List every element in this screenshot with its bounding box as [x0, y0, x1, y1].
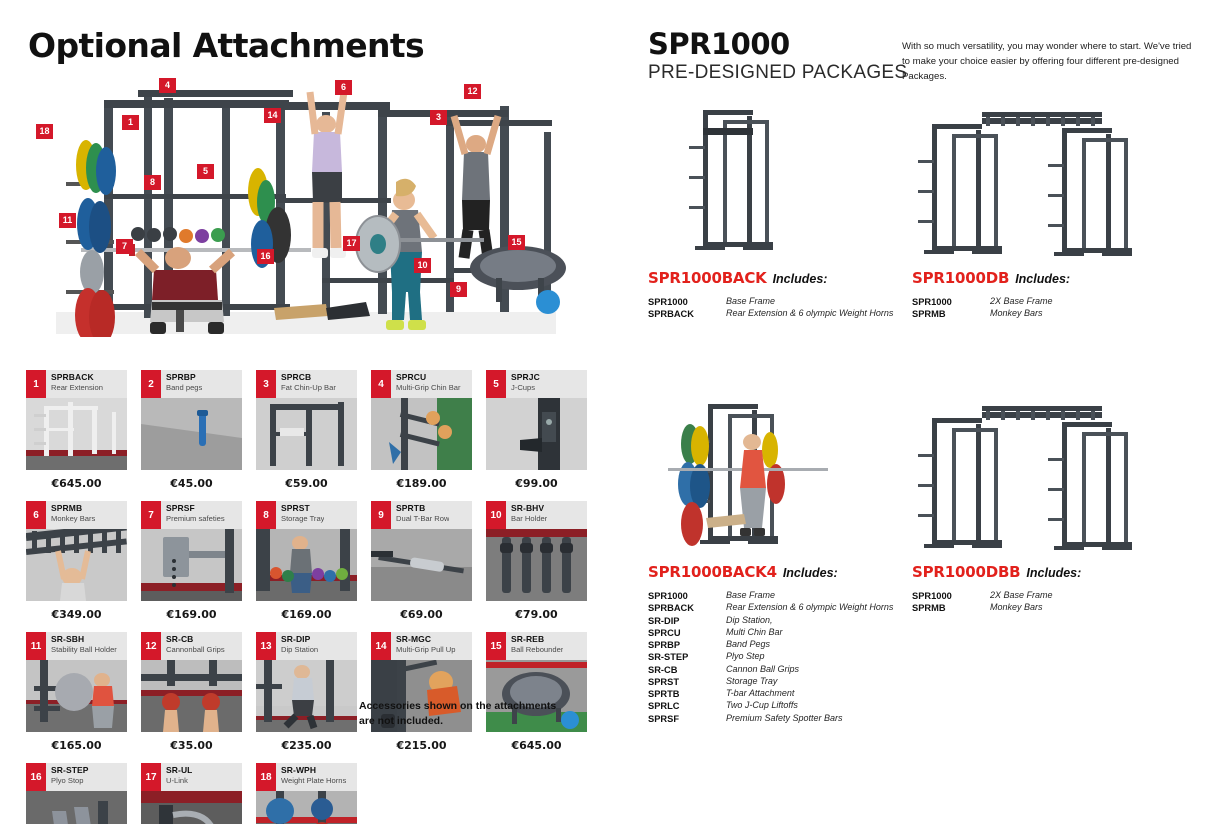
card-title-block: SPRMBMonkey Bars: [46, 501, 95, 529]
card-number-badge: 9: [371, 501, 391, 529]
card-sku: SPRBP: [166, 373, 202, 383]
attachment-grid: 1SPRBACKRear Extension€645.002SPRBPBand …: [26, 370, 588, 824]
card-header: 11SR-SBHStability Ball Holder: [26, 632, 127, 660]
package-item-name: Rear Extension & 6 olympic Weight Horns: [726, 602, 893, 614]
card-product-image: [26, 398, 127, 470]
card-title-block: SPRSFPremium safeties: [161, 501, 225, 529]
card-sku: SR-MGC: [396, 635, 456, 645]
package-heading: SPR1000DBBIncludes:: [912, 563, 1204, 582]
card-number-badge: 14: [371, 632, 391, 660]
package-item-sku: SPRBP: [648, 639, 726, 651]
hero-badge: 3: [430, 110, 447, 125]
package-item-sku: SPRTB: [648, 688, 726, 700]
package-item-row: SPRTBT-bar Attachment: [648, 688, 920, 700]
package-item-list: SPR1000Base FrameSPRBACKRear Extension &…: [648, 296, 920, 321]
card-header: 15SR-REBBall Rebounder: [486, 632, 587, 660]
card-title-block: SR-BHVBar Holder: [506, 501, 547, 529]
card-number-badge: 5: [486, 370, 506, 398]
card-product-image: [371, 398, 472, 470]
card-price: €35.00: [141, 732, 242, 761]
package-item-name: Premium Safety Spotter Bars: [726, 713, 843, 725]
card-price: €79.00: [486, 601, 587, 630]
card-header: 10SR-BHVBar Holder: [486, 501, 587, 529]
card-title-block: SPRCUMulti-Grip Chin Bar: [391, 370, 461, 398]
package-item-sku: SPRST: [648, 676, 726, 688]
card-description: U-Link: [166, 776, 192, 785]
hero-badge: 11: [59, 213, 76, 228]
card-price: €645.00: [486, 732, 587, 761]
card-product-image: [26, 529, 127, 601]
package-item-sku: SPR1000: [912, 590, 990, 602]
package-includes-label: Includes:: [773, 272, 828, 286]
package-item-name: Band Pegs: [726, 639, 770, 651]
card-number-badge: 4: [371, 370, 391, 398]
package-rack-image: [912, 98, 1204, 263]
card-number-badge: 11: [26, 632, 46, 660]
package-card: SPR1000BACKIncludes:SPR1000Base FrameSPR…: [648, 98, 920, 321]
card-description: Multi-Grip Pull Up: [396, 645, 456, 654]
card-sku: SPRCB: [281, 373, 336, 383]
package-item-sku: SPR1000: [648, 590, 726, 602]
card-title-block: SPRTBDual T-Bar Row: [391, 501, 449, 529]
hero-badge: 7: [116, 239, 133, 254]
card-product-image: [256, 398, 357, 470]
hero-illustration: [26, 72, 586, 337]
package-item-name: Dip Station,: [726, 615, 773, 627]
attachment-card[interactable]: 15SR-REBBall Rebounder€645.00: [486, 632, 587, 761]
hero-badge: 1: [122, 115, 139, 130]
package-item-row: SPRBACKRear Extension & 6 olympic Weight…: [648, 602, 920, 614]
package-item-row: SR-DIPDip Station,: [648, 615, 920, 627]
attachment-card[interactable]: 5SPRJCJ-Cups€99.00: [486, 370, 587, 499]
card-number-badge: 10: [486, 501, 506, 529]
attachment-card[interactable]: 8SPRSTStorage Tray€169.00: [256, 501, 357, 630]
card-title-block: SPRBACKRear Extension: [46, 370, 103, 398]
package-heading: SPR1000BACKIncludes:: [648, 269, 920, 288]
card-description: Stability Ball Holder: [51, 645, 117, 654]
card-price: €235.00: [256, 732, 357, 761]
card-description: Weight Plate Horns: [281, 776, 346, 785]
package-item-sku: SR-DIP: [648, 615, 726, 627]
attachment-card[interactable]: 3SPRCBFat Chin-Up Bar€59.00: [256, 370, 357, 499]
package-includes-label: Includes:: [783, 566, 838, 580]
package-item-name: Monkey Bars: [990, 308, 1043, 320]
card-title-block: SR-ULU-Link: [161, 763, 192, 791]
card-product-image: [141, 791, 242, 824]
card-number-badge: 16: [26, 763, 46, 791]
hero-badge: 16: [257, 249, 274, 264]
hero-badge: 12: [464, 84, 481, 99]
card-header: 13SR-DIPDip Station: [256, 632, 357, 660]
card-sku: SR-STEP: [51, 766, 89, 776]
card-number-badge: 8: [256, 501, 276, 529]
catalog-page: Optional Attachments: [0, 0, 1214, 824]
card-price: €69.00: [371, 601, 472, 630]
hero-rack-photo: 18 4 1 6 12 14 3 8 5 11 7 16 17 10 9 15: [26, 72, 586, 337]
card-header: 18SR-WPHWeight Plate Horns: [256, 763, 357, 791]
package-item-sku: SPRCU: [648, 627, 726, 639]
card-number-badge: 15: [486, 632, 506, 660]
card-title-block: SPRCBFat Chin-Up Bar: [276, 370, 336, 398]
package-item-name: Monkey Bars: [990, 602, 1043, 614]
card-number-badge: 18: [256, 763, 276, 791]
package-name: SPR1000DBB: [912, 563, 1020, 581]
card-description: Bar Holder: [511, 514, 547, 523]
attachment-card[interactable]: 1SPRBACKRear Extension€645.00: [26, 370, 127, 499]
card-product-image: [371, 529, 472, 601]
accessories-note: Accessories shown on the attachments are…: [359, 699, 569, 729]
package-rack-image: [912, 392, 1204, 557]
card-description: Monkey Bars: [51, 514, 95, 523]
card-sku: SPRSF: [166, 504, 225, 514]
hero-badge: 5: [197, 164, 214, 179]
card-price: €645.00: [26, 470, 127, 499]
card-title-block: SR-MGCMulti-Grip Pull Up: [391, 632, 456, 660]
package-name: SPR1000BACK: [648, 269, 767, 287]
card-header: 3SPRCBFat Chin-Up Bar: [256, 370, 357, 398]
package-heading: SPR1000BACK4Includes:: [648, 563, 920, 582]
card-sku: SPRMB: [51, 504, 95, 514]
package-item-name: Rear Extension & 6 olympic Weight Horns: [726, 308, 893, 320]
card-sku: SPRST: [281, 504, 324, 514]
card-description: Plyo Stop: [51, 776, 89, 785]
card-description: J-Cups: [511, 383, 540, 392]
card-number-badge: 6: [26, 501, 46, 529]
package-item-row: SR-STEPPlyo Step: [648, 651, 920, 663]
package-card: SPR1000DBBIncludes:SPR10002X Base FrameS…: [912, 392, 1204, 615]
package-item-sku: SPR1000: [912, 296, 990, 308]
card-sku: SR-BHV: [511, 504, 547, 514]
package-item-name: Base Frame: [726, 296, 775, 308]
card-title-block: SPRSTStorage Tray: [276, 501, 324, 529]
card-description: Storage Tray: [281, 514, 324, 523]
card-description: Band pegs: [166, 383, 202, 392]
attachment-card[interactable]: 9SPRTBDual T-Bar Row€69.00: [371, 501, 472, 630]
card-price: €349.00: [26, 601, 127, 630]
card-description: Cannonball Grips: [166, 645, 225, 654]
attachment-card[interactable]: 13SR-DIPDip Station€235.00: [256, 632, 357, 761]
package-item-name: Cannon Ball Grips: [726, 664, 799, 676]
package-item-list: SPR1000Base FrameSPRBACKRear Extension &…: [648, 590, 920, 725]
card-number-badge: 1: [26, 370, 46, 398]
attachment-card[interactable]: 6SPRMBMonkey Bars€349.00: [26, 501, 127, 630]
card-number-badge: 13: [256, 632, 276, 660]
package-card: SPR1000DBIncludes:SPR10002X Base FrameSP…: [912, 98, 1204, 321]
package-includes-label: Includes:: [1015, 272, 1070, 286]
card-sku: SR-DIP: [281, 635, 318, 645]
package-item-sku: SPRBACK: [648, 308, 726, 320]
package-item-row: SPR1000Base Frame: [648, 296, 920, 308]
package-item-name: Two J-Cup Liftoffs: [726, 700, 798, 712]
card-product-image: [486, 529, 587, 601]
attachment-card[interactable]: 7SPRSFPremium safeties€169.00: [141, 501, 242, 630]
package-item-sku: SR-CB: [648, 664, 726, 676]
card-sku: SR-UL: [166, 766, 192, 776]
package-item-name: T-bar Attachment: [726, 688, 794, 700]
package-item-row: SPRSFPremium Safety Spotter Bars: [648, 713, 920, 725]
card-sku: SR-REB: [511, 635, 563, 645]
package-item-sku: SPRMB: [912, 602, 990, 614]
package-includes-label: Includes:: [1026, 566, 1081, 580]
card-price: €165.00: [26, 732, 127, 761]
card-price: €59.00: [256, 470, 357, 499]
package-item-sku: SR-STEP: [648, 651, 726, 663]
card-number-badge: 2: [141, 370, 161, 398]
card-price: €169.00: [141, 601, 242, 630]
card-product-image: [26, 660, 127, 732]
card-header: 9SPRTBDual T-Bar Row: [371, 501, 472, 529]
packages-intro: With so much versatility, you may wonder…: [902, 40, 1202, 85]
card-header: 7SPRSFPremium safeties: [141, 501, 242, 529]
package-item-row: SPRLCTwo J-Cup Liftoffs: [648, 700, 920, 712]
card-sku: SR-CB: [166, 635, 225, 645]
package-rack-image: [648, 98, 920, 263]
card-header: 2SPRBPBand pegs: [141, 370, 242, 398]
card-description: Ball Rebounder: [511, 645, 563, 654]
card-description: Premium safeties: [166, 514, 225, 523]
card-sku: SR-SBH: [51, 635, 117, 645]
package-item-list: SPR10002X Base FrameSPRMBMonkey Bars: [912, 296, 1204, 321]
card-header: 14SR-MGCMulti-Grip Pull Up: [371, 632, 472, 660]
hero-badge: 9: [450, 282, 467, 297]
card-title-block: SPRJCJ-Cups: [506, 370, 540, 398]
package-item-row: SPRMBMonkey Bars: [912, 308, 1204, 320]
hero-badge: 18: [36, 124, 53, 139]
hero-badge: 17: [343, 236, 360, 251]
card-header: 4SPRCUMulti-Grip Chin Bar: [371, 370, 472, 398]
card-number-badge: 12: [141, 632, 161, 660]
attachment-card[interactable]: 11SR-SBHStability Ball Holder€165.00: [26, 632, 127, 761]
package-item-row: SPRBACKRear Extension & 6 olympic Weight…: [648, 308, 920, 320]
attachment-card[interactable]: 2SPRBPBand pegs€45.00: [141, 370, 242, 499]
attachment-card[interactable]: 18SR-WPHWeight Plate Horns€95.00: [256, 763, 357, 824]
attachment-card[interactable]: 14SR-MGCMulti-Grip Pull Up€215.00: [371, 632, 472, 761]
attachment-card[interactable]: 10SR-BHVBar Holder€79.00: [486, 501, 587, 630]
package-item-row: SPRCUMulti Chin Bar: [648, 627, 920, 639]
card-product-image: [141, 529, 242, 601]
package-item-row: SPR10002X Base Frame: [912, 296, 1204, 308]
package-item-sku: SPRSF: [648, 713, 726, 725]
card-product-image: [486, 398, 587, 470]
package-item-row: SPR10002X Base Frame: [912, 590, 1204, 602]
package-item-name: Plyo Step: [726, 651, 765, 663]
card-header: 1SPRBACKRear Extension: [26, 370, 127, 398]
card-product-image: [141, 660, 242, 732]
card-product-image: [141, 398, 242, 470]
card-title-block: SR-DIPDip Station: [276, 632, 318, 660]
card-title-block: SPRBPBand pegs: [161, 370, 202, 398]
card-header: 17SR-ULU-Link: [141, 763, 242, 791]
attachment-card[interactable]: 4SPRCUMulti-Grip Chin Bar€189.00: [371, 370, 472, 499]
card-title-block: SR-STEPPlyo Stop: [46, 763, 89, 791]
packages-subtitle: PRE-DESIGNED PACKAGES: [648, 62, 907, 84]
package-item-list: SPR10002X Base FrameSPRMBMonkey Bars: [912, 590, 1204, 615]
card-title-block: SR-SBHStability Ball Holder: [46, 632, 117, 660]
card-number-badge: 3: [256, 370, 276, 398]
page-title: Optional Attachments: [28, 26, 424, 65]
package-item-row: SPRMBMonkey Bars: [912, 602, 1204, 614]
card-price: €215.00: [371, 732, 472, 761]
package-item-name: 2X Base Frame: [990, 296, 1053, 308]
hero-badge: 8: [144, 175, 161, 190]
attachment-card[interactable]: 16SR-STEPPlyo Stop€25000: [26, 763, 127, 824]
card-product-image: [256, 791, 357, 824]
package-item-name: Base Frame: [726, 590, 775, 602]
card-header: 6SPRMBMonkey Bars: [26, 501, 127, 529]
package-card: SPR1000BACK4Includes:SPR1000Base FrameSP…: [648, 392, 920, 725]
hero-badge: 4: [159, 78, 176, 93]
package-item-sku: SPR1000: [648, 296, 726, 308]
package-item-sku: SPRMB: [912, 308, 990, 320]
predesigned-packages-section: SPR1000 PRE-DESIGNED PACKAGES With so mu…: [620, 0, 1214, 824]
card-sku: SPRBACK: [51, 373, 103, 383]
package-heading: SPR1000DBIncludes:: [912, 269, 1204, 288]
card-price: €99.00: [486, 470, 587, 499]
optional-attachments-section: Optional Attachments: [0, 0, 608, 824]
package-rack-image: [648, 392, 920, 557]
card-header: 16SR-STEPPlyo Stop: [26, 763, 127, 791]
package-name: SPR1000BACK4: [648, 563, 777, 581]
card-price: €169.00: [256, 601, 357, 630]
card-sku: SPRJC: [511, 373, 540, 383]
package-item-name: 2X Base Frame: [990, 590, 1053, 602]
card-description: Fat Chin-Up Bar: [281, 383, 336, 392]
card-header: 8SPRSTStorage Tray: [256, 501, 357, 529]
card-description: Multi-Grip Chin Bar: [396, 383, 461, 392]
package-item-name: Storage Tray: [726, 676, 777, 688]
attachment-card[interactable]: 17SR-ULU-Link€89.00: [141, 763, 242, 824]
package-item-sku: SPRBACK: [648, 602, 726, 614]
card-title-block: SR-CBCannonball Grips: [161, 632, 225, 660]
attachment-card[interactable]: 12SR-CBCannonball Grips€35.00: [141, 632, 242, 761]
package-item-row: SPRSTStorage Tray: [648, 676, 920, 688]
package-name: SPR1000DB: [912, 269, 1009, 287]
hero-badge: 14: [264, 108, 281, 123]
card-product-image: [26, 791, 127, 824]
card-product-image: [256, 529, 357, 601]
card-description: Dual T-Bar Row: [396, 514, 449, 523]
package-item-row: SPRBPBand Pegs: [648, 639, 920, 651]
card-header: 5SPRJCJ-Cups: [486, 370, 587, 398]
card-title-block: SR-WPHWeight Plate Horns: [276, 763, 346, 791]
packages-title: SPR1000: [648, 27, 790, 61]
card-sku: SPRCU: [396, 373, 461, 383]
card-description: Dip Station: [281, 645, 318, 654]
card-header: 12SR-CBCannonball Grips: [141, 632, 242, 660]
package-item-name: Multi Chin Bar: [726, 627, 783, 639]
package-item-row: SR-CBCannon Ball Grips: [648, 664, 920, 676]
card-price: €45.00: [141, 470, 242, 499]
card-sku: SPRTB: [396, 504, 449, 514]
hero-badge: 10: [414, 258, 431, 273]
card-price: €189.00: [371, 470, 472, 499]
card-number-badge: 7: [141, 501, 161, 529]
card-title-block: SR-REBBall Rebounder: [506, 632, 563, 660]
card-description: Rear Extension: [51, 383, 103, 392]
hero-badge: 15: [508, 235, 525, 250]
package-item-row: SPR1000Base Frame: [648, 590, 920, 602]
card-sku: SR-WPH: [281, 766, 346, 776]
card-product-image: [256, 660, 357, 732]
hero-badge: 6: [335, 80, 352, 95]
package-item-sku: SPRLC: [648, 700, 726, 712]
card-number-badge: 17: [141, 763, 161, 791]
